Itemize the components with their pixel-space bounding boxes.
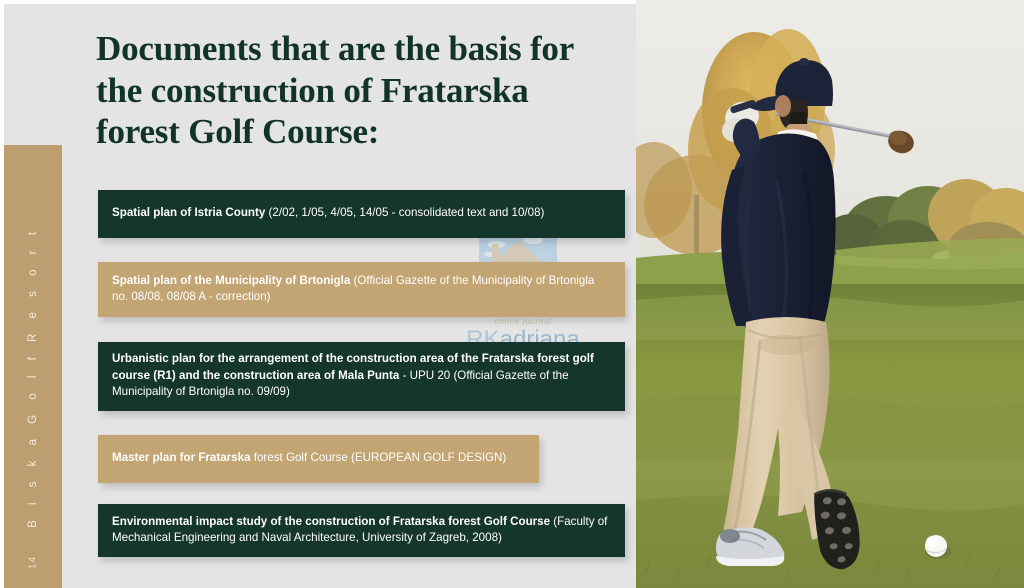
document-item-master-plan-fratarska[interactable]: Master plan for Fratarska forest Golf Co… bbox=[98, 435, 539, 483]
document-text: Urbanistic plan for the arrangement of t… bbox=[112, 351, 611, 400]
document-detail: (2/02, 1/05, 4/05, 14/05 - consolidated … bbox=[265, 206, 544, 219]
document-title: Spatial plan of the Municipality of Brto… bbox=[112, 274, 350, 287]
document-title: Environmental impact study of the constr… bbox=[112, 515, 550, 528]
golfer-photo-illustration bbox=[636, 0, 1024, 588]
document-detail: forest Golf Course (EUROPEAN GOLF DESIGN… bbox=[251, 451, 507, 464]
document-text: Spatial plan of Istria County (2/02, 1/0… bbox=[112, 205, 544, 221]
sidebar: B i s k a G o l f R e s o r t 14 bbox=[4, 145, 62, 588]
document-text: Spatial plan of the Municipality of Brto… bbox=[112, 273, 611, 306]
document-item-spatial-plan-brtonigla[interactable]: Spatial plan of the Municipality of Brto… bbox=[98, 262, 625, 317]
page-number: 14 bbox=[28, 556, 39, 569]
document-item-spatial-plan-istria-county[interactable]: Spatial plan of Istria County (2/02, 1/0… bbox=[98, 190, 625, 238]
content-panel: Documents that are the basis for the con… bbox=[4, 4, 636, 588]
document-title: Spatial plan of Istria County bbox=[112, 206, 265, 219]
slide: Documents that are the basis for the con… bbox=[0, 0, 1024, 588]
document-item-environmental-impact-study[interactable]: Environmental impact study of the constr… bbox=[98, 504, 625, 557]
document-text: Master plan for Fratarska forest Golf Co… bbox=[112, 450, 506, 466]
golfer-photo bbox=[636, 0, 1024, 588]
sidebar-brand-label: B i s k a G o l f R e s o r t bbox=[27, 227, 39, 529]
document-item-urbanistic-plan-fratarska[interactable]: Urbanistic plan for the arrangement of t… bbox=[98, 342, 625, 411]
documents-list: Spatial plan of Istria County (2/02, 1/0… bbox=[4, 4, 636, 588]
document-text: Environmental impact study of the constr… bbox=[112, 514, 611, 547]
document-title: Master plan for Fratarska bbox=[112, 451, 251, 464]
